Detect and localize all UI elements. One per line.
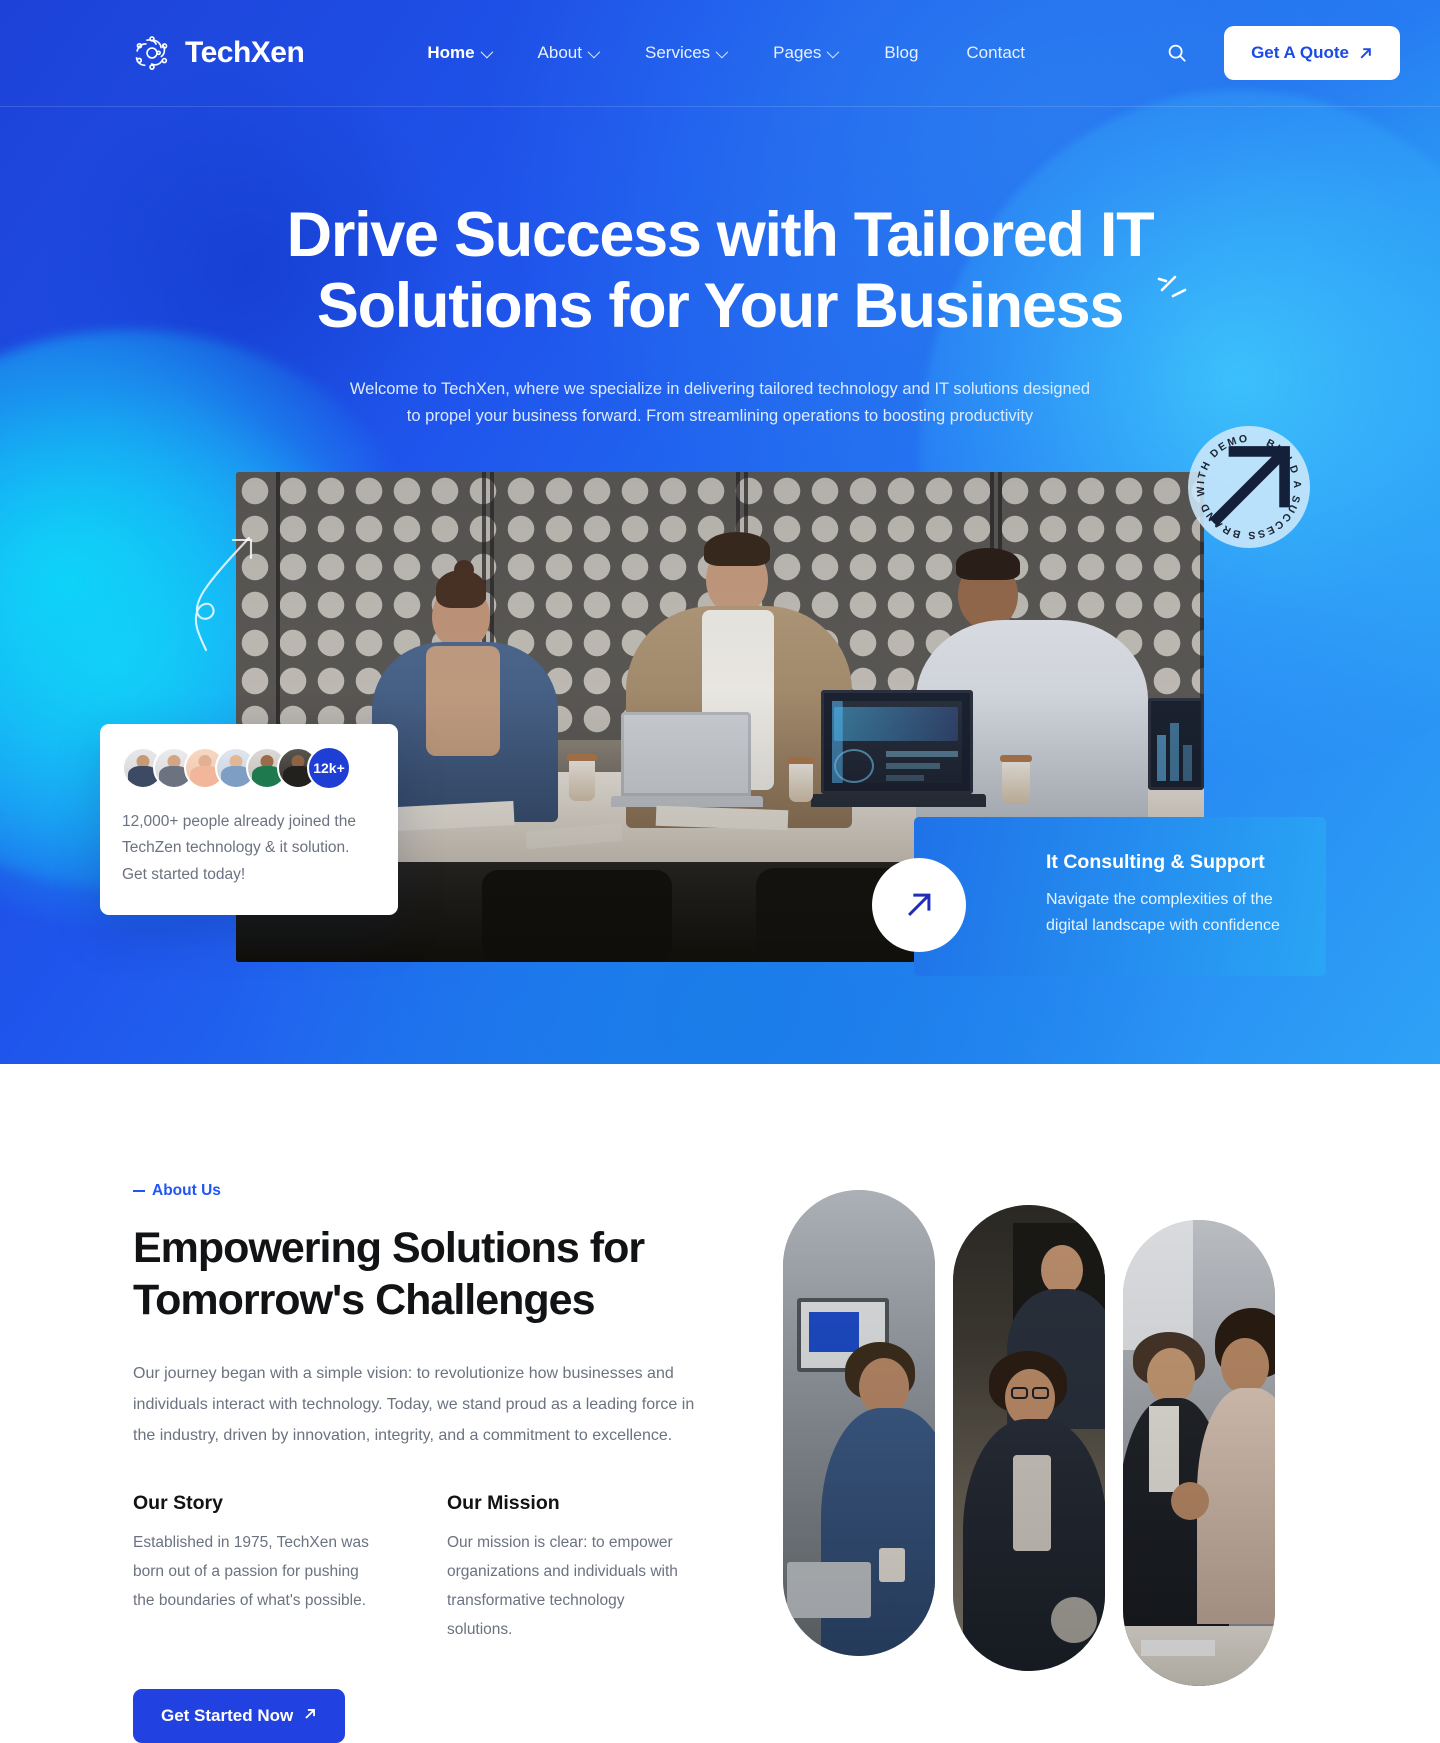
hero-subtitle: Welcome to TechXen, where we specialize …: [340, 376, 1100, 429]
nav-item-pages[interactable]: Pages: [749, 43, 860, 63]
hero-subtitle-line-1: Welcome to TechXen, where we specialize …: [350, 380, 1090, 398]
nav-item-label: Blog: [884, 43, 918, 63]
woman-with-glasses-and-colleague-photo: [953, 1205, 1105, 1671]
hero-section: TechXen Home About Services Pages: [0, 0, 1440, 1064]
about-column-our-story: Our Story Established in 1975, TechXen w…: [133, 1492, 373, 1644]
about-column-title: Our Story: [133, 1492, 373, 1515]
get-started-now-button[interactable]: Get Started Now: [133, 1689, 345, 1743]
consult-text-line-2: digital landscape with confidence: [1046, 917, 1280, 934]
it-consulting-card-title: It Consulting & Support: [1046, 851, 1294, 874]
brand-name: TechXen: [185, 36, 304, 70]
chevron-down-icon: [480, 45, 493, 58]
joined-users-text: 12,000+ people already joined the TechZe…: [122, 809, 376, 889]
about-eyebrow: About Us: [133, 1182, 723, 1200]
arrow-up-right-icon[interactable]: [872, 858, 966, 952]
joined-users-card: 12k+ 12,000+ people already joined the T…: [100, 724, 398, 915]
nav-item-services[interactable]: Services: [621, 43, 749, 63]
avatar-group: 12k+: [122, 746, 376, 790]
consult-text-line-1: Navigate the complexities of the: [1046, 891, 1273, 908]
about-eyebrow-label: About Us: [152, 1182, 221, 1200]
joined-text-line-2: TechZen technology & it solution.: [122, 839, 349, 856]
hero-title: Drive Success with Tailored IT Solutions…: [250, 200, 1190, 342]
arrow-up-right-icon: [1358, 46, 1373, 61]
nav-item-blog[interactable]: Blog: [860, 43, 942, 63]
techxen-swirl-logo-icon: [133, 34, 171, 72]
hero-title-line-1: Drive Success with Tailored IT: [287, 200, 1154, 270]
about-image-gallery: [783, 1182, 1307, 1743]
nav-item-label: Pages: [773, 43, 821, 63]
about-paragraph: Our journey began with a simple vision: …: [133, 1359, 713, 1451]
chevron-down-icon: [588, 45, 601, 58]
woman-at-desk-with-laptop-photo: [783, 1190, 935, 1656]
about-title-line-1: Empowering Solutions for: [133, 1224, 644, 1272]
about-title-line-2: Tomorrow's Challenges: [133, 1276, 595, 1324]
avatar-count-badge: 12k+: [307, 746, 351, 790]
hero-media: BUILD A SUCCESS BRAND WITH DEMOUI: [236, 472, 1204, 962]
sparkle-lines-icon: [1156, 252, 1198, 294]
hero-title-line-2: Solutions for Your Business: [317, 271, 1123, 341]
nav-item-about[interactable]: About: [514, 43, 621, 63]
get-a-quote-button[interactable]: Get A Quote: [1224, 26, 1400, 80]
status-badge[interactable]: BUILD A SUCCESS BRAND WITH DEMOUI: [1188, 426, 1310, 548]
chevron-down-icon: [827, 45, 840, 58]
chevron-down-icon: [716, 45, 729, 58]
nav-item-label: Contact: [966, 43, 1025, 63]
joined-text-line-3: Get started today!: [122, 866, 245, 883]
nav-item-contact[interactable]: Contact: [942, 43, 1049, 63]
it-consulting-card-text: Navigate the complexities of the digital…: [1046, 887, 1294, 940]
it-consulting-card[interactable]: It Consulting & Support Navigate the com…: [914, 817, 1326, 976]
curly-arrow-up-icon: [182, 528, 272, 653]
search-icon[interactable]: [1164, 40, 1190, 66]
main-navigation: Home About Services Pages Blog: [403, 43, 1049, 63]
site-header: TechXen Home About Services Pages: [0, 0, 1440, 107]
brand-logo[interactable]: TechXen: [133, 34, 304, 72]
nav-item-label: About: [538, 43, 582, 63]
joined-text-line-1: 12,000+ people already joined the: [122, 813, 356, 830]
about-section: About Us Empowering Solutions for Tomorr…: [0, 1064, 1440, 1743]
page-title: Empowering Solutions for Tomorrow's Chal…: [133, 1223, 723, 1326]
about-column-title: Our Mission: [447, 1492, 687, 1515]
nav-item-home[interactable]: Home: [403, 43, 513, 63]
dash-icon: [133, 1190, 145, 1192]
nav-item-label: Services: [645, 43, 710, 63]
two-professionals-in-discussion-photo: [1123, 1220, 1275, 1686]
about-column-our-mission: Our Mission Our mission is clear: to emp…: [447, 1492, 687, 1644]
about-column-text: Established in 1975, TechXen was born ou…: [133, 1529, 373, 1615]
get-started-now-label: Get Started Now: [161, 1706, 293, 1726]
get-a-quote-label: Get A Quote: [1251, 43, 1349, 63]
hero-subtitle-line-2: to propel your business forward. From st…: [407, 407, 1033, 425]
arrow-up-right-icon: [303, 1706, 317, 1726]
about-column-text: Our mission is clear: to empower organiz…: [447, 1529, 687, 1644]
nav-item-label: Home: [427, 43, 474, 63]
